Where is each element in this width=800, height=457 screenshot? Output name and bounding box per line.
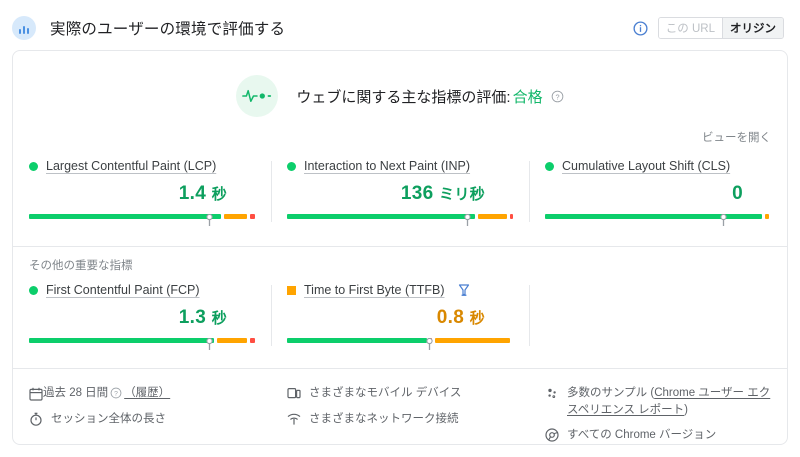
page-title: 実際のユーザーの環境で評価する bbox=[50, 17, 285, 39]
status-dot-good bbox=[287, 162, 296, 171]
network-text: さまざまなネットワーク接続 bbox=[309, 411, 459, 428]
metric-bar bbox=[287, 214, 513, 228]
assessment-text: ウェブに関する主な指標の評価: 合格 ? bbox=[296, 86, 563, 107]
metric-lcp: Largest Contentful Paint (LCP) 1.4 秒 bbox=[13, 159, 271, 228]
field-data-card: ウェブに関する主な指標の評価: 合格 ? ビューを開く Largest Cont… bbox=[12, 50, 788, 445]
toggle-this-url[interactable]: この URL bbox=[659, 18, 722, 38]
metric-header: Time to First Byte (TTFB) bbox=[287, 283, 513, 297]
metric-value: 0.8 秒 bbox=[287, 297, 513, 329]
footer-column-source: 多数のサンプル (Chrome ユーザー エクスペリエンス レポート) すべての… bbox=[529, 379, 787, 453]
metric-marker bbox=[463, 214, 472, 233]
scope-toggle[interactable]: この URL オリジン bbox=[658, 17, 784, 39]
help-icon[interactable]: ? bbox=[551, 90, 564, 103]
metric-marker bbox=[205, 214, 214, 233]
footer-column-devices: さまざまなモバイル デバイス さまざまなネットワーク接続 bbox=[271, 379, 529, 453]
status-dot-good bbox=[29, 286, 38, 295]
header-controls: この URL オリジン bbox=[633, 17, 784, 39]
samples-text-before: 多数のサンプル ( bbox=[567, 387, 654, 399]
stopwatch-icon bbox=[29, 412, 43, 426]
pulse-icon bbox=[236, 75, 278, 117]
other-metrics-label: その他の重要な指標 bbox=[13, 247, 787, 273]
metric-bar bbox=[287, 338, 513, 352]
history-link[interactable]: （履歴） bbox=[124, 385, 170, 402]
metric-inp: Interaction to Next Paint (INP) 136 ミリ秒 bbox=[271, 159, 529, 228]
metric-bar bbox=[29, 338, 255, 352]
chrome-icon bbox=[545, 428, 559, 442]
devices-text: さまざまなモバイル デバイス bbox=[309, 385, 461, 402]
panel-header: 実際のユーザーの環境で評価する この URL オリジン bbox=[0, 0, 800, 56]
metric-header: Interaction to Next Paint (INP) bbox=[287, 159, 513, 173]
metric-marker bbox=[425, 338, 434, 357]
footer-item-chrome-versions: すべての Chrome バージョン bbox=[545, 427, 779, 444]
date-range-text: 過去 28 日間 bbox=[43, 385, 108, 402]
mobile-devices-icon bbox=[287, 386, 301, 400]
metric-value: 1.3 秒 bbox=[29, 297, 255, 329]
metric-name[interactable]: Largest Contentful Paint (LCP) bbox=[46, 159, 216, 173]
metric-header: Largest Contentful Paint (LCP) bbox=[29, 159, 255, 173]
status-dot-good bbox=[29, 162, 38, 171]
metric-number: 136 bbox=[401, 183, 434, 204]
metric-number: 1.3 bbox=[179, 307, 206, 328]
metric-header: Cumulative Layout Shift (CLS) bbox=[545, 159, 771, 173]
lab-funnel-icon[interactable] bbox=[458, 283, 470, 297]
calendar-icon bbox=[29, 387, 43, 401]
metric-marker bbox=[719, 214, 728, 233]
metric-cls: Cumulative Layout Shift (CLS) 0 bbox=[529, 159, 787, 228]
samples-text-after: ) bbox=[684, 404, 688, 416]
metric-value: 136 ミリ秒 bbox=[287, 173, 513, 205]
assessment-verdict: 合格 bbox=[513, 86, 543, 107]
metric-value: 0 bbox=[545, 173, 771, 205]
help-icon[interactable]: ? bbox=[110, 387, 122, 399]
metric-unit: 秒 bbox=[212, 186, 227, 203]
metric-name[interactable]: Time to First Byte (TTFB) bbox=[304, 283, 445, 297]
footer-column-collection: 過去 28 日間 ? （履歴） bbox=[13, 379, 271, 453]
metric-unit: 秒 bbox=[212, 310, 227, 327]
footer-item-samples: 多数のサンプル (Chrome ユーザー エクスペリエンス レポート) bbox=[545, 385, 779, 418]
footer-item-devices: さまざまなモバイル デバイス bbox=[287, 385, 517, 402]
metric-name[interactable]: Interaction to Next Paint (INP) bbox=[304, 159, 470, 173]
status-square-needs-improvement bbox=[287, 286, 296, 295]
samples-icon bbox=[545, 386, 559, 400]
metric-header: First Contentful Paint (FCP) bbox=[29, 283, 255, 297]
status-dot-good bbox=[545, 162, 554, 171]
svg-text:?: ? bbox=[114, 391, 118, 398]
core-web-vitals-assessment: ウェブに関する主な指標の評価: 合格 ? bbox=[13, 51, 787, 117]
assessment-label: ウェブに関する主な指標の評価: bbox=[296, 86, 510, 107]
other-metrics-row: First Contentful Paint (FCP) 1.3 秒 bbox=[13, 273, 787, 352]
metric-unit: 秒 bbox=[470, 310, 485, 327]
footer-item-network: さまざまなネットワーク接続 bbox=[287, 411, 517, 428]
session-length-text: セッション全体の長さ bbox=[51, 411, 166, 428]
samples-text: 多数のサンプル (Chrome ユーザー エクスペリエンス レポート) bbox=[567, 385, 779, 418]
metric-fcp: First Contentful Paint (FCP) 1.3 秒 bbox=[13, 283, 271, 352]
metric-name[interactable]: Cumulative Layout Shift (CLS) bbox=[562, 159, 730, 173]
open-view-link[interactable]: ビューを開く bbox=[13, 117, 787, 145]
metric-ttfb: Time to First Byte (TTFB) 0.8 秒 bbox=[271, 283, 529, 352]
info-icon[interactable] bbox=[633, 21, 648, 36]
footer-item-session-length: セッション全体の長さ bbox=[29, 411, 259, 428]
crux-bar-chart-icon bbox=[12, 16, 36, 40]
chrome-versions-text: すべての Chrome バージョン bbox=[567, 427, 716, 444]
metric-name[interactable]: First Contentful Paint (FCP) bbox=[46, 283, 200, 297]
footer-item-date-range: 過去 28 日間 ? （履歴） bbox=[29, 385, 259, 402]
panel-footer: 過去 28 日間 ? （履歴） bbox=[13, 368, 787, 453]
network-icon bbox=[287, 412, 301, 426]
metric-placeholder bbox=[529, 283, 787, 352]
toggle-origin[interactable]: オリジン bbox=[722, 18, 783, 38]
metric-number: 1.4 bbox=[179, 183, 206, 204]
svg-text:?: ? bbox=[555, 92, 559, 101]
metric-marker bbox=[205, 338, 214, 357]
metric-number: 0 bbox=[732, 183, 743, 204]
metric-unit: ミリ秒 bbox=[439, 186, 485, 203]
core-metrics-row: Largest Contentful Paint (LCP) 1.4 秒 bbox=[13, 145, 787, 228]
metric-bar bbox=[29, 214, 255, 228]
metric-number: 0.8 bbox=[437, 307, 464, 328]
metric-value: 1.4 秒 bbox=[29, 173, 255, 205]
metric-bar bbox=[545, 214, 771, 228]
pagespeed-field-data-panel: 実際のユーザーの環境で評価する この URL オリジン bbox=[0, 0, 800, 457]
